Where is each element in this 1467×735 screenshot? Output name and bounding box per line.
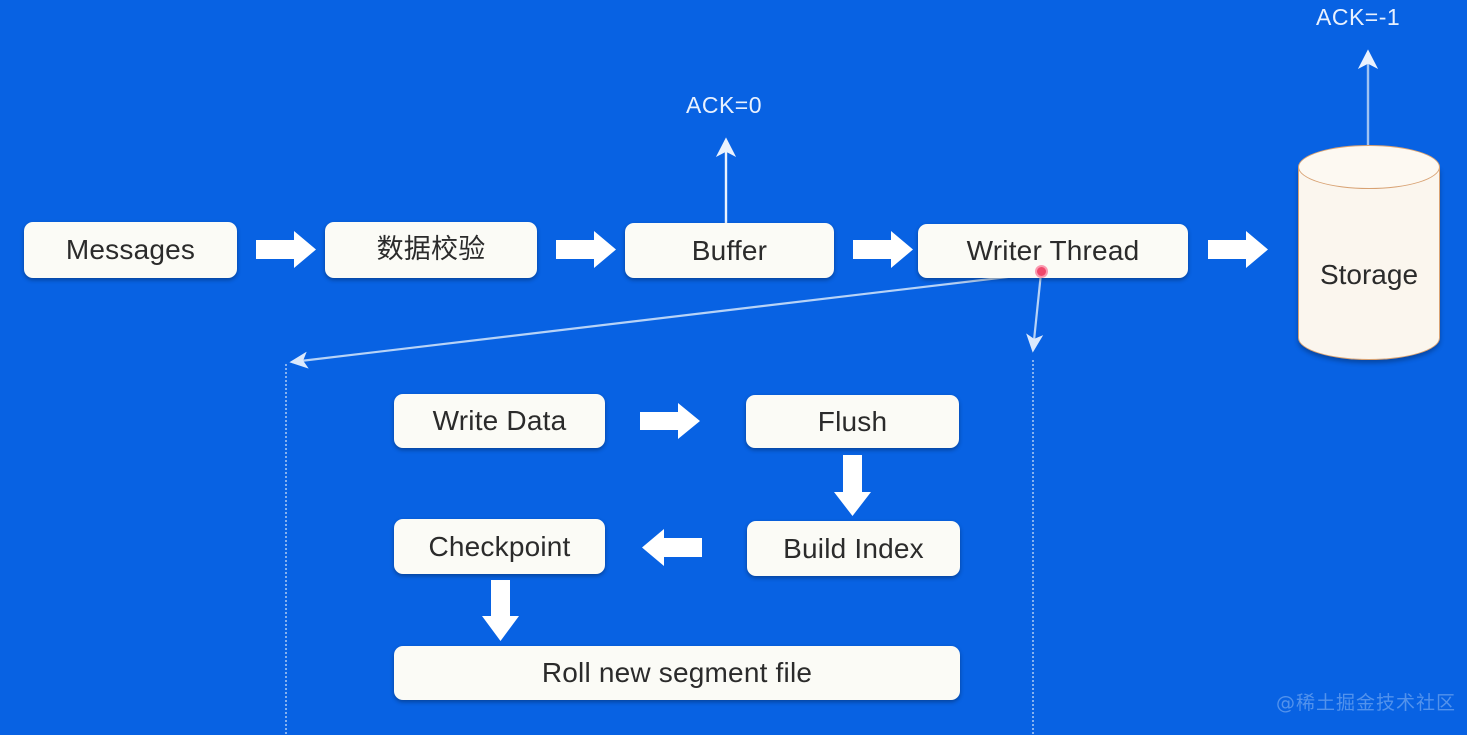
node-writer-thread[interactable]: Writer Thread	[918, 224, 1188, 278]
arrow-flush-to-build-index	[834, 455, 871, 516]
node-messages[interactable]: Messages	[24, 222, 237, 278]
ack-zero-label: ACK=0	[686, 92, 762, 119]
ack-minus-one-text: ACK=-1	[1316, 4, 1400, 30]
node-writer-thread-label: Writer Thread	[967, 236, 1140, 265]
arrow-checkpoint-to-roll	[482, 580, 519, 641]
node-build-index-label: Build Index	[783, 534, 924, 563]
cursor-marker-dot	[1035, 265, 1048, 278]
writer-detail-left-link	[292, 273, 1041, 362]
node-messages-label: Messages	[66, 235, 195, 264]
arrow-messages-to-validation	[256, 231, 316, 268]
arrow-write-data-to-flush	[640, 403, 700, 439]
node-data-validation-label: 数据校验	[377, 236, 486, 264]
diagram-canvas: Messages 数据校验 Buffer Writer Thread Stora…	[0, 0, 1467, 735]
arrow-writer-to-storage	[1208, 231, 1268, 268]
node-roll-new-segment-file[interactable]: Roll new segment file	[394, 646, 960, 700]
node-storage-label: Storage	[1320, 260, 1418, 291]
arrow-buffer-to-writer	[853, 231, 913, 268]
writer-detail-right-link	[1033, 273, 1041, 350]
node-build-index[interactable]: Build Index	[747, 521, 960, 576]
node-buffer[interactable]: Buffer	[625, 223, 834, 278]
node-write-data[interactable]: Write Data	[394, 394, 605, 448]
watermark-text: @稀土掘金技术社区	[1276, 692, 1456, 714]
ack-zero-text: ACK=0	[686, 92, 762, 118]
node-checkpoint[interactable]: Checkpoint	[394, 519, 605, 574]
node-storage[interactable]: Storage	[1298, 145, 1440, 360]
node-write-data-label: Write Data	[433, 406, 567, 435]
node-flush-label: Flush	[818, 407, 887, 436]
node-roll-new-segment-file-label: Roll new segment file	[542, 658, 812, 687]
node-buffer-label: Buffer	[692, 236, 767, 265]
arrow-build-index-to-checkpoint	[642, 529, 702, 566]
arrow-validation-to-buffer	[556, 231, 616, 268]
node-checkpoint-label: Checkpoint	[428, 532, 570, 561]
node-data-validation[interactable]: 数据校验	[325, 222, 537, 278]
storage-cylinder-top	[1298, 145, 1440, 189]
node-flush[interactable]: Flush	[746, 395, 959, 448]
ack-minus-one-label: ACK=-1	[1316, 4, 1400, 31]
watermark: @稀土掘金技术社区	[1276, 688, 1456, 715]
